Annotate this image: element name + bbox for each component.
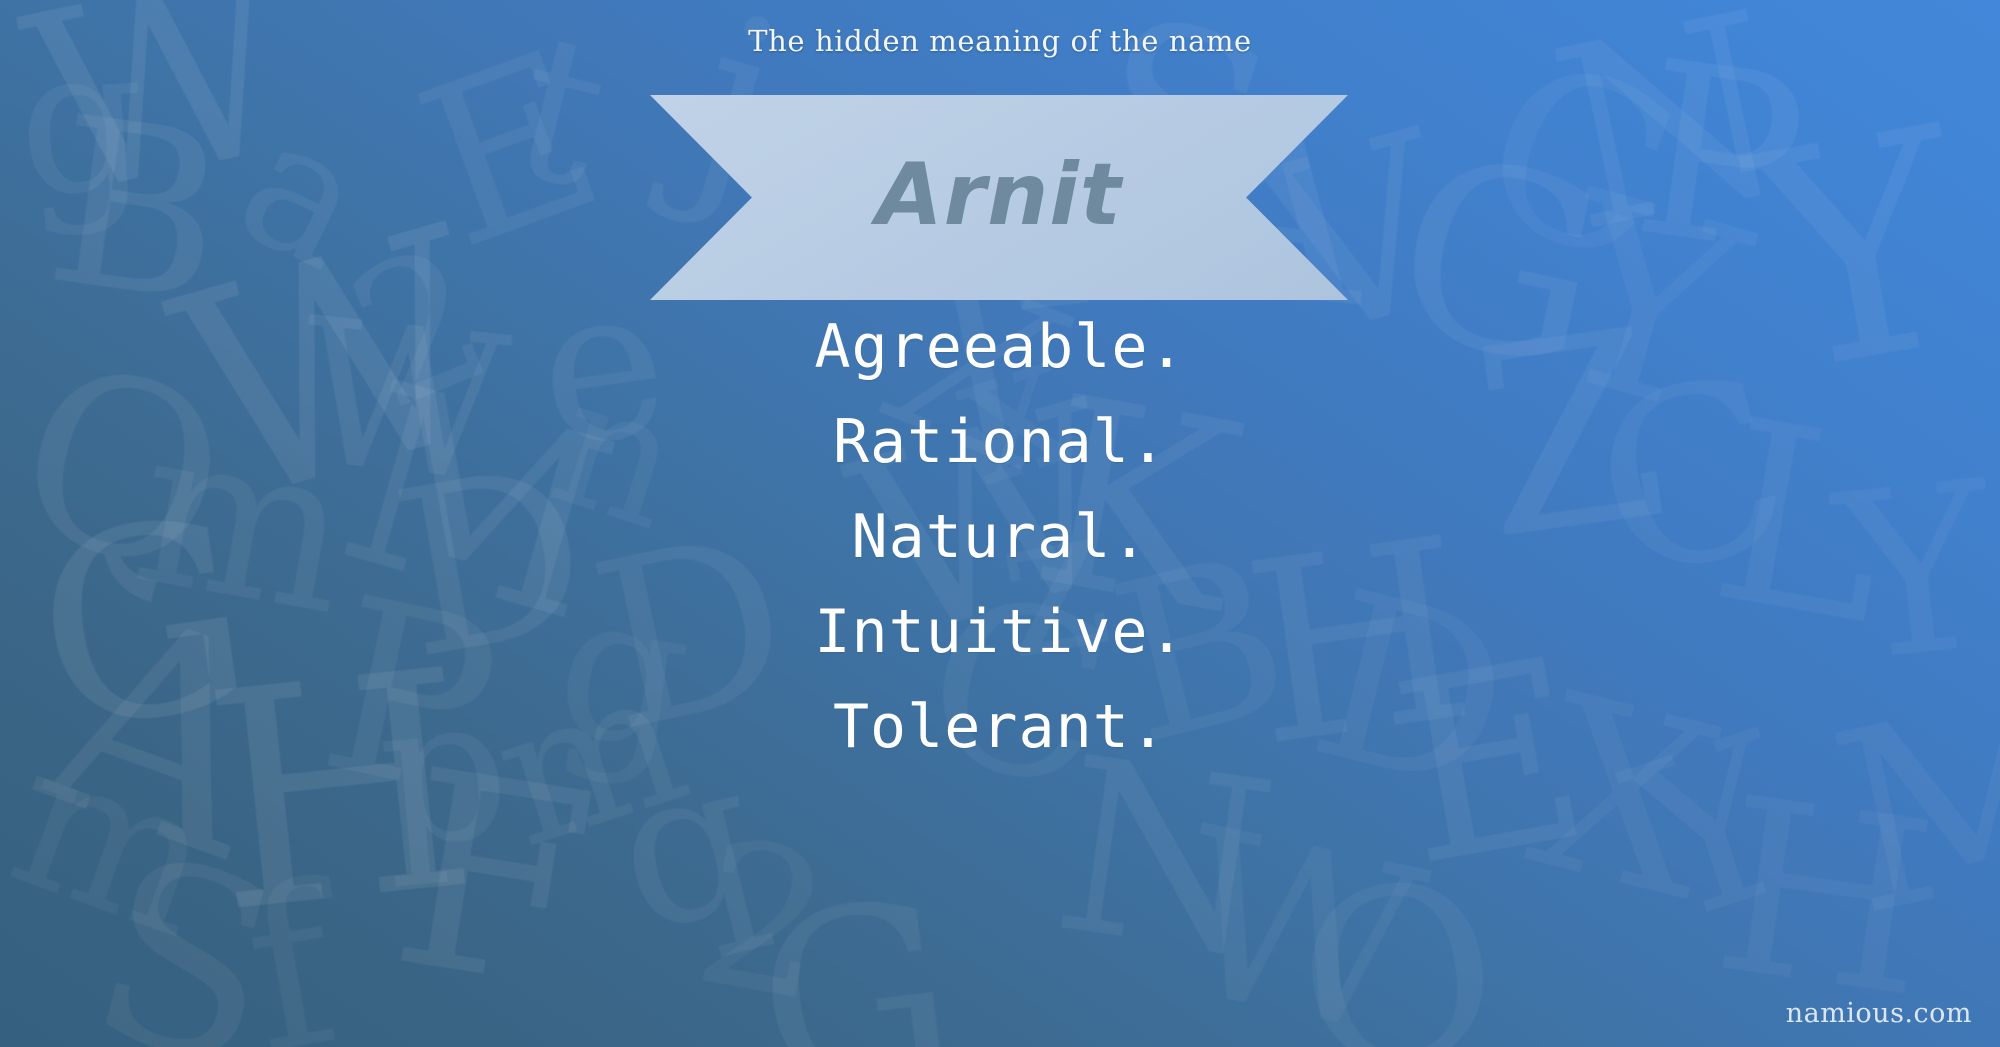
- background-glyph: W: [1163, 817, 1433, 1047]
- trait-line: Agreeable.: [0, 300, 2000, 395]
- background-glyph: a: [223, 104, 384, 284]
- trait-line: Rational.: [0, 395, 2000, 490]
- background-glyph: G: [749, 889, 963, 1047]
- background-glyph: S: [78, 842, 294, 1047]
- background-glyph: q: [601, 746, 773, 946]
- trait-line: Natural.: [0, 490, 2000, 585]
- site-watermark: namious.com: [1786, 998, 1972, 1029]
- background-glyph: F: [384, 757, 604, 1005]
- background-glyph: N: [1047, 746, 1282, 970]
- trait-line: Tolerant.: [0, 680, 2000, 775]
- traits-list: Agreeable.Rational.Natural.Intuitive.Tol…: [0, 300, 2000, 775]
- background-glyph: H: [1707, 786, 1942, 1010]
- background-glyph: B: [40, 107, 234, 317]
- background-glyph: g: [12, 36, 151, 209]
- background-glyph: f: [235, 874, 347, 1047]
- trait-line: Intuitive.: [0, 585, 2000, 680]
- name-label: Arnit: [650, 95, 1348, 300]
- background-glyph: E: [404, 38, 617, 262]
- name-meaning-card: WBgQGAHmWaW2MDPpFmEtenDgq2GjWCzXxNBKRSHD…: [0, 0, 2000, 1047]
- background-glyph: C: [1463, 46, 1693, 283]
- page-title: The hidden meaning of the name: [0, 24, 2000, 58]
- background-glyph: 2: [687, 830, 841, 1014]
- background-glyph: O: [1286, 866, 1511, 1047]
- background-glyph: P: [1627, 50, 1814, 267]
